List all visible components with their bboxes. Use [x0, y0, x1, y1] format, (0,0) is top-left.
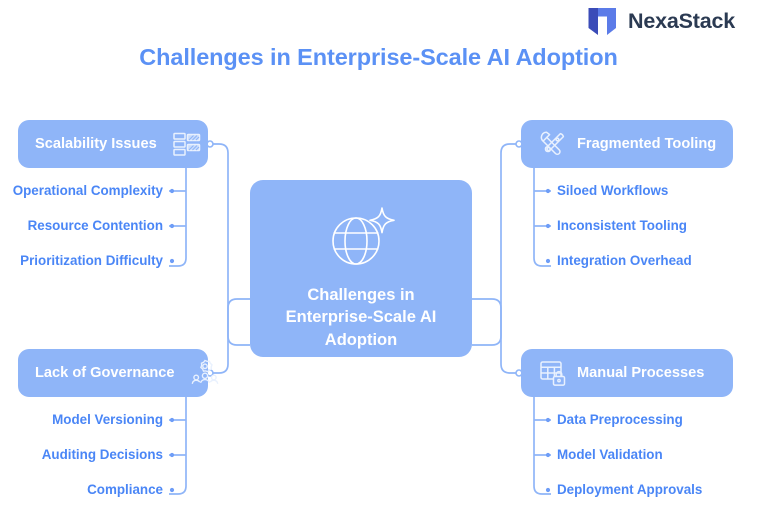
branch-head-scalability-issues[interactable]: Scalability Issues [18, 120, 208, 168]
scaling-bars-icon [172, 129, 202, 159]
page-title: Challenges in Enterprise-Scale AI Adopti… [0, 44, 757, 71]
dot-tr-1 [546, 189, 550, 193]
branch-head-lack-of-governance[interactable]: Lack of Governance [18, 349, 208, 397]
dot-bl-1 [170, 418, 174, 422]
spine-bottom-left [169, 397, 186, 494]
leaf-inconsistent-tooling[interactable]: Inconsistent Tooling [557, 218, 757, 233]
dot-bl-2 [170, 453, 174, 457]
leaf-operational-complexity[interactable]: Operational Complexity [0, 183, 163, 198]
branch-head-label: Manual Processes [577, 365, 704, 381]
leaf-prioritization-difficulty[interactable]: Prioritization Difficulty [0, 253, 163, 268]
spine-top-left [169, 168, 186, 266]
branch-head-label: Scalability Issues [35, 136, 157, 152]
dot-br-2 [546, 453, 550, 457]
connector-top-right-to-center [472, 144, 521, 345]
dot-bl-3 [170, 488, 174, 492]
center-node[interactable]: Challenges in Enterprise-Scale AI Adopti… [250, 180, 472, 357]
branch-head-fragmented-tooling[interactable]: Fragmented Tooling [521, 120, 733, 168]
spine-bottom-right [534, 397, 551, 494]
spine-top-right [534, 168, 551, 266]
leaf-deployment-approvals[interactable]: Deployment Approvals [557, 482, 757, 497]
branch-head-manual-processes[interactable]: Manual Processes [521, 349, 733, 397]
brand-header: NexaStack [587, 6, 735, 37]
leaf-model-validation[interactable]: Model Validation [557, 447, 757, 462]
branch-head-label: Fragmented Tooling [577, 136, 716, 152]
leaf-compliance[interactable]: Compliance [0, 482, 163, 497]
dot-tl-1 [170, 189, 174, 193]
wrench-screwdriver-icon [538, 129, 568, 159]
dot-tr-3 [546, 259, 550, 263]
center-node-label: Challenges in Enterprise-Scale AI Adopti… [266, 284, 456, 351]
leaf-integration-overhead[interactable]: Integration Overhead [557, 253, 757, 268]
leaf-resource-contention[interactable]: Resource Contention [0, 218, 163, 233]
dot-br-3 [546, 488, 550, 492]
nexastack-logo-icon [587, 6, 617, 37]
dot-tl-2 [170, 224, 174, 228]
branch-head-label: Lack of Governance [35, 365, 175, 381]
globe-sparkle-icon [324, 204, 398, 270]
dot-tl-3 [170, 259, 174, 263]
connector-top-left-to-center [208, 144, 250, 345]
brand-name: NexaStack [628, 9, 735, 34]
table-lock-icon [538, 358, 568, 388]
connector-bottom-right-to-center [472, 299, 521, 373]
dot-tr-2 [546, 224, 550, 228]
leaf-model-versioning[interactable]: Model Versioning [0, 412, 163, 427]
leaf-data-preprocessing[interactable]: Data Preprocessing [557, 412, 757, 427]
governance-gear-people-icon [190, 358, 220, 388]
dot-br-1 [546, 418, 550, 422]
leaf-auditing-decisions[interactable]: Auditing Decisions [0, 447, 163, 462]
mindmap-canvas: NexaStack Challenges in Enterprise-Scale… [0, 0, 757, 510]
leaf-siloed-workflows[interactable]: Siloed Workflows [557, 183, 757, 198]
